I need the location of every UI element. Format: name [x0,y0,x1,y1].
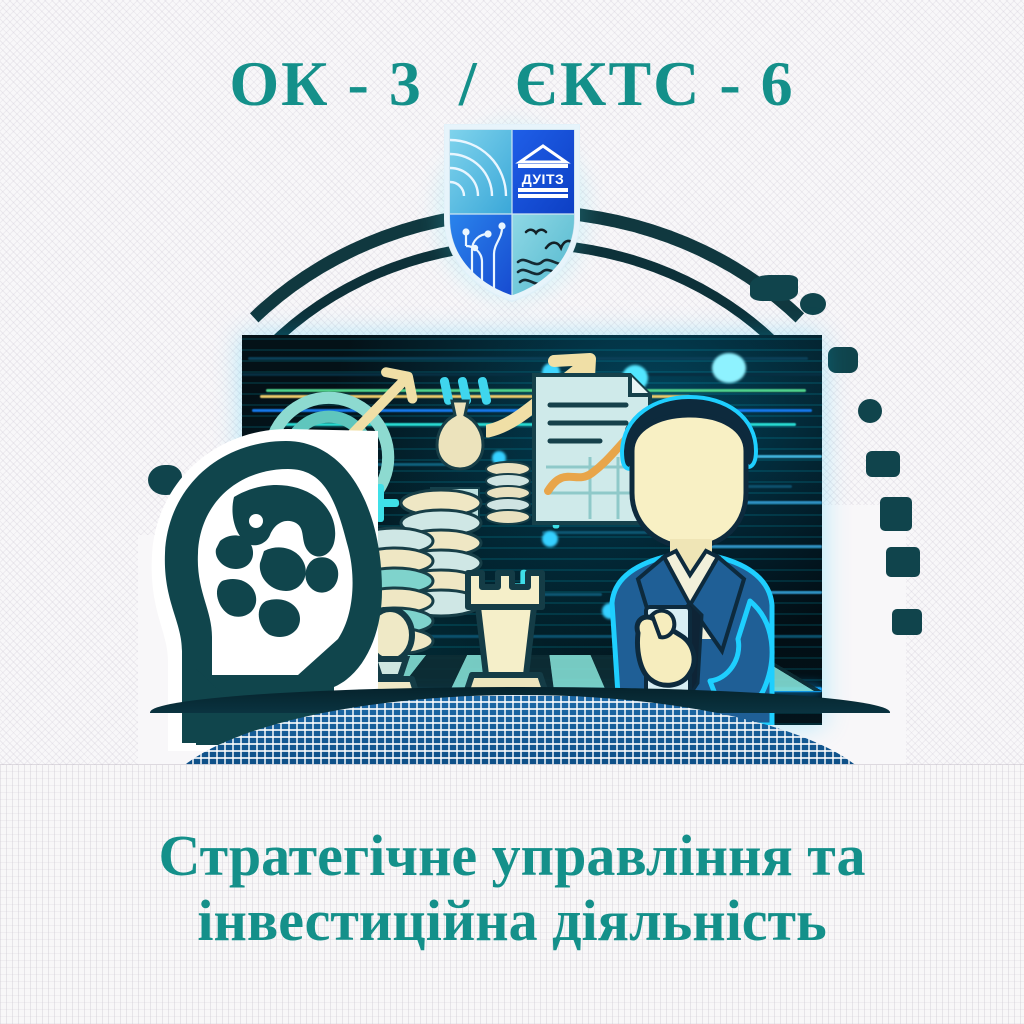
course-title-line-2: інвестиційна діяльність [60,889,964,954]
background-seam [0,764,1024,765]
emblem-abbreviation: ДУІТЗ [522,171,565,187]
arc-fragment-chip [750,275,798,301]
businessman-figure [560,389,822,725]
panel-glow-dot [542,531,558,547]
coin-stack-small-icon [482,455,534,535]
arc-fragment-chip [892,609,922,635]
arc-fragment-chip [880,497,912,531]
arc-fragment-chip [828,347,858,373]
course-title: Стратегічне управління та інвестиційна д… [60,824,964,954]
shield-emblem: ДУІТЗ [442,122,582,302]
money-bag-icon [434,395,486,473]
arc-fragment-chip [866,451,900,477]
arc-fragment-chip [800,293,826,315]
arc-fragment-chip [886,547,920,577]
shield-quadrant-top-left [450,130,512,214]
arc-fragment-chip [858,399,882,423]
course-title-line-1: Стратегічне управління та [60,824,964,889]
panel-glow-dot [712,353,746,383]
page-title: ОК - 3 / ЄКТС - 6 [0,52,1024,116]
poster-canvas: ? [0,0,1024,1024]
shield-svg: ДУІТЗ [442,122,582,302]
